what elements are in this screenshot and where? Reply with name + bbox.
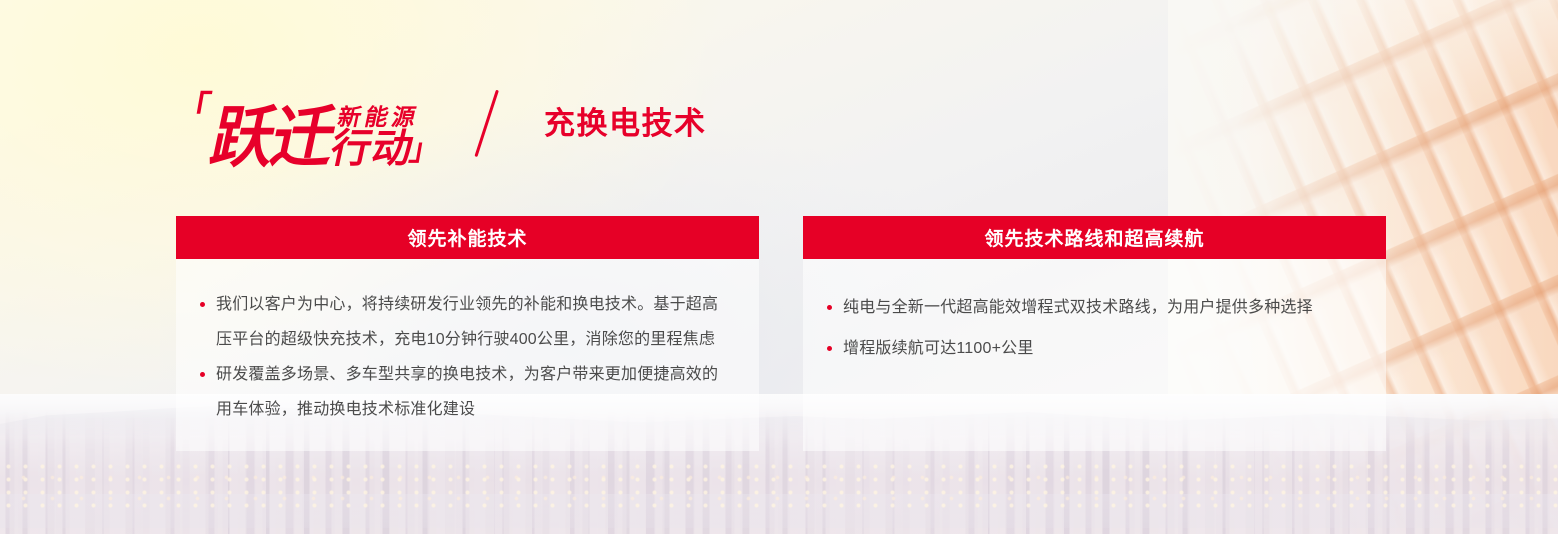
list-item: 增程版续航可达1100+公里 (825, 328, 1356, 369)
logo-subtitle-bottom: 行动 (327, 130, 417, 168)
card-body-leading-replenishment-technology: 我们以客户为中心，将持续研发行业领先的补能和换电技术。基于超高压平台的超级快充技… (176, 259, 759, 451)
list-item: 纯电与全新一代超高能效增程式双技术路线，为用户提供多种选择 (825, 287, 1356, 328)
card-container: 领先补能技术 我们以客户为中心，将持续研发行业领先的补能和换电技术。基于超高压平… (176, 216, 1387, 451)
banner-header: 「 跃迁 新能源 行动 「 充换电技术 (176, 78, 707, 170)
banner-root: 「 跃迁 新能源 行动 「 充换电技术 领先补能技术 我们以客户为中心，将持续研… (0, 0, 1558, 534)
logo-close-bracket-icon: 「 (406, 128, 444, 172)
card-leading-replenishment-technology: 领先补能技术 我们以客户为中心，将持续研发行业领先的补能和换电技术。基于超高压平… (176, 216, 759, 451)
card-body-leading-tech-route-and-ultra-long-range: 纯电与全新一代超高能效增程式双技术路线，为用户提供多种选择 增程版续航可达110… (803, 259, 1386, 451)
logo-open-bracket-icon: 「 (173, 92, 213, 126)
page-title: 充换电技术 (544, 108, 707, 139)
card-title-leading-tech-route-and-ultra-long-range: 领先技术路线和超高续航 (803, 216, 1386, 259)
list-item: 研发覆盖多场景、多车型共享的换电技术，为客户带来更加便捷高效的用车体验，推动换电… (198, 357, 729, 427)
bullet-list: 我们以客户为中心，将持续研发行业领先的补能和换电技术。基于超高压平台的超级快充技… (198, 287, 729, 427)
slash-divider-icon (476, 88, 522, 160)
skyline-city-lights (0, 460, 1558, 516)
skyline-river (0, 494, 1558, 528)
card-leading-tech-route-and-ultra-long-range: 领先技术路线和超高续航 纯电与全新一代超高能效增程式双技术路线，为用户提供多种选… (803, 216, 1386, 451)
brand-logo: 「 跃迁 新能源 行动 「 (176, 78, 440, 170)
bullet-list: 纯电与全新一代超高能效增程式双技术路线，为用户提供多种选择 增程版续航可达110… (825, 287, 1356, 369)
logo-main-text: 跃迁 (206, 106, 340, 170)
card-title-leading-replenishment-technology: 领先补能技术 (176, 216, 759, 259)
list-item: 我们以客户为中心，将持续研发行业领先的补能和换电技术。基于超高压平台的超级快充技… (198, 287, 729, 357)
